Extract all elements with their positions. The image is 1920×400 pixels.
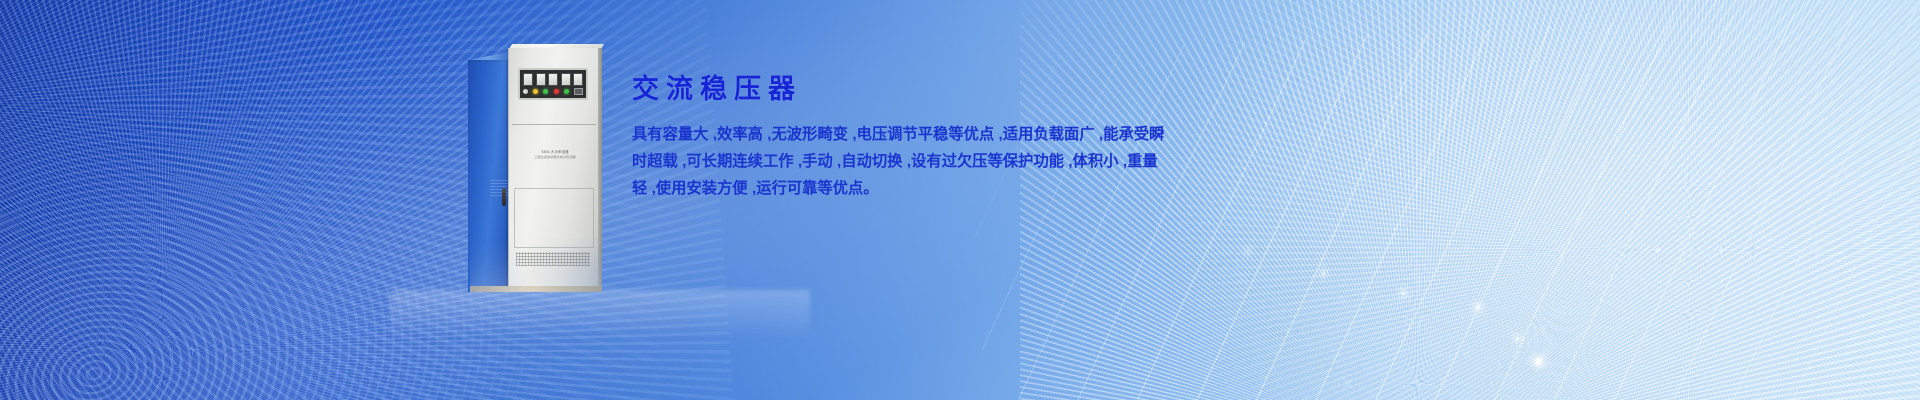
bokeh-dot [1476,305,1480,309]
meter-gauge [536,73,546,86]
indicator-lamp [543,89,548,94]
bokeh-dot [1402,292,1405,295]
description-line: 时超载 ,可长期连续工作 ,手动 ,自动切换 ,设有过欠压等保护功能 ,体积小 … [632,148,1162,175]
floor-sheen [390,290,810,360]
description-line: 轻 ,使用安装方便 ,运行可靠等优点。 [632,175,1162,202]
indicator-lamp-row [523,88,583,95]
nameplate-description: 三相全自动补偿式电力稳压器 [524,155,586,159]
streak-lines-bottom-right [966,4,1920,400]
banner-copy: 交流稳压器 具有容量大 ,效率高 ,无波形畸变 ,电压调节平稳等优点 ,适用负载… [632,76,1162,202]
bokeh-dot [1535,358,1542,365]
meter-row [523,73,583,86]
cabinet-nameplate: SBW-大功率电器 三相全自动补偿式电力稳压器 [524,150,586,159]
promo-banner: SBW-大功率电器 三相全自动补偿式电力稳压器 交流稳压器 具有容量大 ,效率高… [0,0,1920,400]
light-glow-right [1140,0,1920,400]
indicator-lamp [554,89,559,94]
meter-gauge [548,73,558,86]
product-reflection [470,230,602,292]
bokeh-dot [1322,272,1325,275]
banner-title: 交流稳压器 [632,76,1162,103]
control-knob [574,88,583,95]
cabinet-door-seam [512,124,596,125]
control-panel [518,68,588,100]
meter-gauge [523,73,533,86]
cabinet-door-handle [502,188,506,206]
indicator-lamp [533,89,538,94]
product-image: SBW-大功率电器 三相全自动补偿式电力稳压器 [450,38,630,318]
banner-description: 具有容量大 ,效率高 ,无波形畸变 ,电压调节平稳等优点 ,适用负载面广 ,能承… [632,121,1162,202]
indicator-lamp [523,89,528,94]
bokeh-dot [1247,250,1249,252]
indicator-lamp [564,89,569,94]
bokeh-dot [1516,337,1519,340]
meter-gauge [573,73,583,86]
meter-gauge [561,73,571,86]
description-line: 具有容量大 ,效率高 ,无波形畸变 ,电压调节平稳等优点 ,适用负载面广 ,能承… [632,121,1162,148]
